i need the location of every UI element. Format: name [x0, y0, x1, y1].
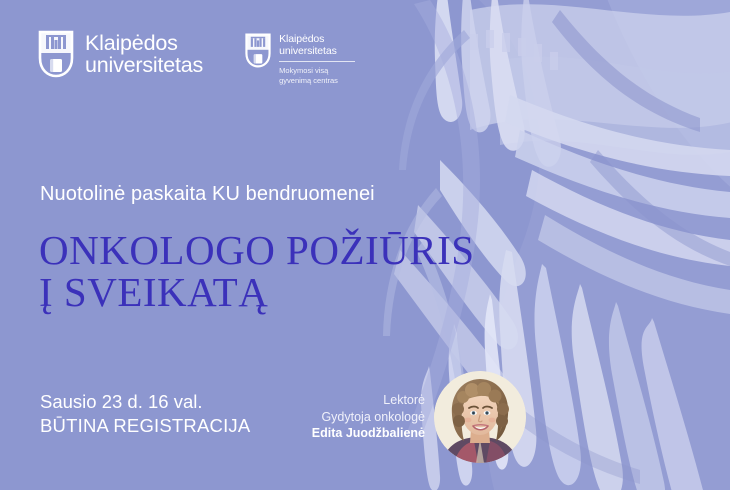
avatar	[434, 371, 526, 463]
logo-tagline-line1: Mokymosi visą	[279, 66, 355, 76]
logo-tagline-line2: gyvenimą centras	[279, 76, 355, 86]
logo-divider-rule	[279, 61, 355, 62]
logo-lifelong-learning-centre[interactable]: Klaipėdos universitetas Mokymosi visą gy…	[245, 30, 355, 85]
logo-secondary-wordmark: Klaipėdos universitetas	[279, 34, 355, 57]
logo-primary-line2: universitetas	[85, 54, 203, 77]
ku-shield-crest-icon	[245, 33, 271, 68]
logo-secondary-line1: Klaipėdos	[279, 34, 355, 46]
lecturer-block: Lektorė Gydytoja onkologė Edita Juodžbal…	[312, 392, 425, 442]
event-poster: Klaipėdos universitetas	[0, 0, 730, 490]
logo-primary-line1: Klaipėdos	[85, 32, 203, 55]
event-datetime: Sausio 23 d. 16 val.	[40, 390, 250, 414]
page-title: ONKOLOGO POŽIŪRIS Į SVEIKATĄ	[39, 229, 475, 313]
logo-klaipedos-universitetas[interactable]: Klaipėdos universitetas	[38, 30, 203, 78]
lecturer-name: Edita Juodžbalienė	[312, 425, 425, 442]
logo-row: Klaipėdos universitetas	[38, 30, 355, 85]
page-title-line2: Į SVEIKATĄ	[39, 271, 475, 313]
registration-notice: BŪTINA REGISTRACIJA	[40, 414, 250, 438]
lecturer-specialty: Gydytoja onkologė	[312, 409, 425, 426]
event-kicker: Nuotolinė paskaita KU bendruomenei	[40, 182, 375, 206]
event-details: Sausio 23 d. 16 val. BŪTINA REGISTRACIJA	[40, 390, 250, 438]
page-title-line1: ONKOLOGO POŽIŪRIS	[39, 229, 475, 271]
logo-secondary-line2: universitetas	[279, 46, 355, 58]
lecturer-role: Lektorė	[312, 392, 425, 409]
ku-shield-crest-icon	[38, 30, 74, 78]
logo-primary-wordmark: Klaipėdos universitetas	[85, 32, 203, 77]
logo-secondary-tagline: Mokymosi visą gyvenimą centras	[279, 66, 355, 85]
